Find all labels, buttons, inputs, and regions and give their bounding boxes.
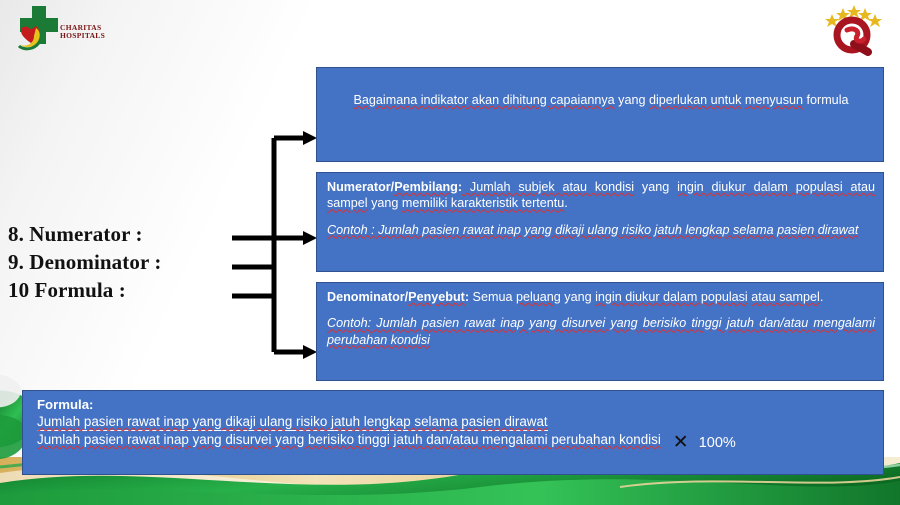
denominator-example-label: Contoh:	[327, 316, 371, 330]
left-label-denominator: 9. Denominator :	[8, 249, 161, 277]
charitas-logo-line2: HOSPITALS	[60, 32, 105, 40]
formula-multiplier: ✕ 100%	[673, 433, 736, 452]
denominator-box: Denominator/Penyebut: Semua peluang yang…	[316, 282, 884, 381]
multiply-icon: ✕	[673, 433, 689, 452]
denominator-body-part3: yang	[561, 290, 595, 304]
numerator-title-part2: Pembilang	[394, 180, 458, 194]
denominator-definition: Denominator/Penyebut: Semua peluang yang…	[327, 289, 875, 305]
numerator-title-part1: Numerator/	[327, 180, 394, 194]
numerator-example: Contoh : Jumlah pasien rawat inap yang d…	[327, 222, 875, 238]
denominator-title-part1: Denominator/	[327, 290, 408, 304]
left-label-formula: 10 Formula :	[8, 277, 161, 305]
numerator-example-text: Jumlah pasien rawat inap yang dikaji ula…	[375, 223, 859, 237]
charitas-logo-text: CHARITAS HOSPITALS	[60, 24, 105, 40]
numerator-body-part6: memiliki karakteristik tertentu	[402, 196, 564, 210]
denominator-body-part7: .	[820, 290, 824, 304]
question-text-part4: menyusun	[745, 93, 803, 107]
star-row	[825, 5, 882, 27]
left-label-list: 8. Numerator : 9. Denominator : 10 Formu…	[8, 221, 161, 305]
question-text-part2: yang	[615, 93, 649, 107]
question-box-text: Bagaimana indikator akan dihitung capaia…	[327, 92, 875, 108]
numerator-body-part3: ingin diukur dalam	[677, 180, 788, 194]
charitas-hospitals-logo: CHARITAS HOSPITALS	[8, 2, 118, 54]
denominator-body-part1: Semua	[469, 290, 516, 304]
formula-denominator-text: Jumlah pasien rawat inap yang disurvei y…	[37, 432, 661, 447]
numerator-body-part7: .	[564, 196, 568, 210]
question-text-part1: Bagaimana indikator akan dihitung capaia…	[354, 93, 615, 107]
denominator-example-text: Jumlah pasien rawat inap yang disurvei y…	[327, 316, 875, 346]
question-box: Bagaimana indikator akan dihitung capaia…	[316, 67, 884, 162]
slide-canvas: CHARITAS HOSPITALS 8. Numerator : 9. Den…	[0, 0, 900, 505]
denominator-body-part2: peluang	[516, 290, 561, 304]
numerator-body-part5: yang	[368, 196, 402, 210]
question-text-part3: diperlukan untuk	[649, 93, 741, 107]
denominator-example: Contoh: Jumlah pasien rawat inap yang di…	[327, 315, 875, 348]
denominator-title-part2: Penyebut	[408, 290, 465, 304]
formula-numerator-text: Jumlah pasien rawat inap yang dikaji ula…	[37, 413, 548, 431]
formula-box: Formula: Jumlah pasien rawat inap yang d…	[22, 390, 884, 475]
numerator-body-part2: yang	[634, 180, 677, 194]
quality-accreditation-logo	[816, 2, 886, 56]
formula-percent: 100%	[699, 435, 736, 451]
question-text-part5: formula	[803, 93, 849, 107]
denominator-body-part6: atau sampel	[751, 290, 820, 304]
numerator-example-label: Contoh :	[327, 223, 375, 237]
numerator-definition: Numerator/Pembilang: Jumlah subjek atau …	[327, 179, 875, 212]
numerator-body-part1: Jumlah subjek atau kondisi	[462, 180, 634, 194]
left-label-numerator: 8. Numerator :	[8, 221, 161, 249]
formula-fraction: Jumlah pasien rawat inap yang dikaji ula…	[37, 413, 661, 448]
numerator-box: Numerator/Pembilang: Jumlah subjek atau …	[316, 172, 884, 272]
denominator-body-part4: ingin diukur dalam populasi	[595, 290, 748, 304]
formula-title: Formula:	[37, 397, 873, 412]
